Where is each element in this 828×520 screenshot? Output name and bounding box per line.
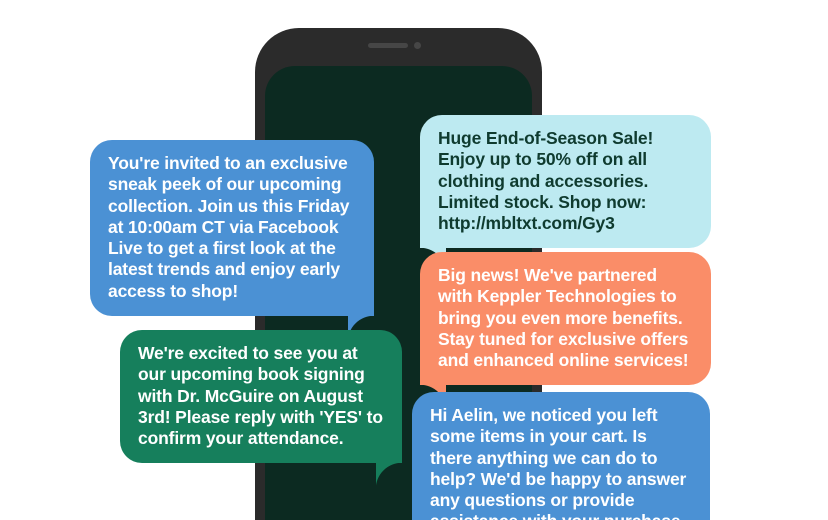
speaker-grill-icon [368,43,408,48]
scene-canvas: You're invited to an exclusive sneak pee… [0,0,828,520]
message-bubble-abandoned-cart[interactable]: Hi Aelin, we noticed you left some items… [412,392,710,520]
message-bubble-book-signing[interactable]: We're excited to see you at our upcoming… [120,330,402,463]
message-bubble-partnership[interactable]: Big news! We've partnered with Keppler T… [420,252,711,385]
front-camera-icon [414,42,421,49]
message-bubble-sale[interactable]: Huge End-of-Season Sale! Enjoy up to 50%… [420,115,711,248]
message-bubble-invitation[interactable]: You're invited to an exclusive sneak pee… [90,140,374,316]
